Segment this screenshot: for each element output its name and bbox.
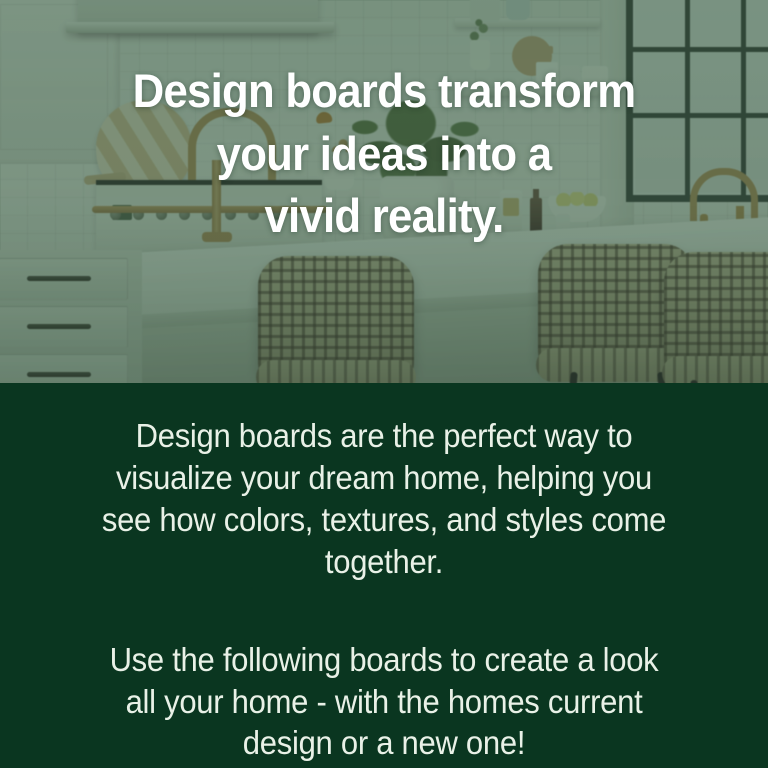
- design-boards-promo-card: Design boards transform your ideas into …: [0, 0, 768, 768]
- description-panel: Design boards are the perfect way to vis…: [0, 383, 768, 768]
- description-paragraph-1: Design boards are the perfect way to vis…: [61, 415, 708, 583]
- description-paragraph-2: Use the following boards to create a loo…: [61, 639, 708, 765]
- description-text-block: Design boards are the perfect way to vis…: [40, 415, 728, 764]
- hero-headline: Design boards transform your ideas into …: [27, 60, 741, 248]
- hero-section: Design boards transform your ideas into …: [0, 0, 768, 383]
